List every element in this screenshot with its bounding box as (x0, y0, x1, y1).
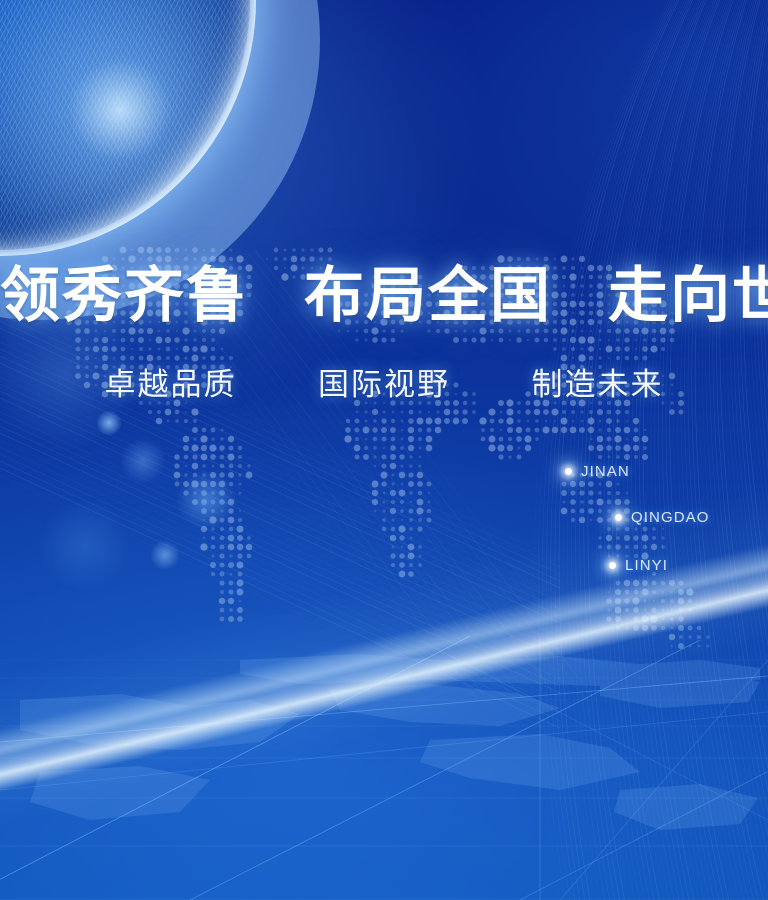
city-marker-jinan[interactable]: JINAN (565, 463, 630, 480)
city-marker-linyi[interactable]: LINYI (609, 557, 668, 574)
city-dot-icon (609, 562, 616, 569)
banner-content: 领秀齐鲁 布局全国 走向世界 卓越品质 国际视野 制造未来 JINANQINGD… (0, 0, 768, 900)
subtitle-segment-3: 制造未来 (532, 367, 664, 402)
subtitle-segment-1: 卓越品质 (105, 367, 237, 402)
subtitle-segment-2: 国际视野 (318, 367, 450, 402)
page-title: 领秀齐鲁 布局全国 走向世界 (0, 266, 768, 326)
city-dot-icon (565, 468, 572, 475)
headline-segment-1: 领秀齐鲁 (0, 266, 248, 326)
hero-banner: 领秀齐鲁 布局全国 走向世界 卓越品质 国际视野 制造未来 JINANQINGD… (0, 0, 768, 900)
headline-segment-2: 布局全国 (304, 266, 552, 326)
page-subtitle: 卓越品质 国际视野 制造未来 (0, 368, 768, 402)
city-label: LINYI (625, 557, 668, 574)
city-marker-qingdao[interactable]: QINGDAO (615, 509, 710, 526)
city-label: QINGDAO (631, 509, 710, 526)
headline-segment-3: 走向世界 (608, 266, 768, 326)
city-label: JINAN (581, 463, 630, 480)
city-dot-icon (615, 514, 622, 521)
